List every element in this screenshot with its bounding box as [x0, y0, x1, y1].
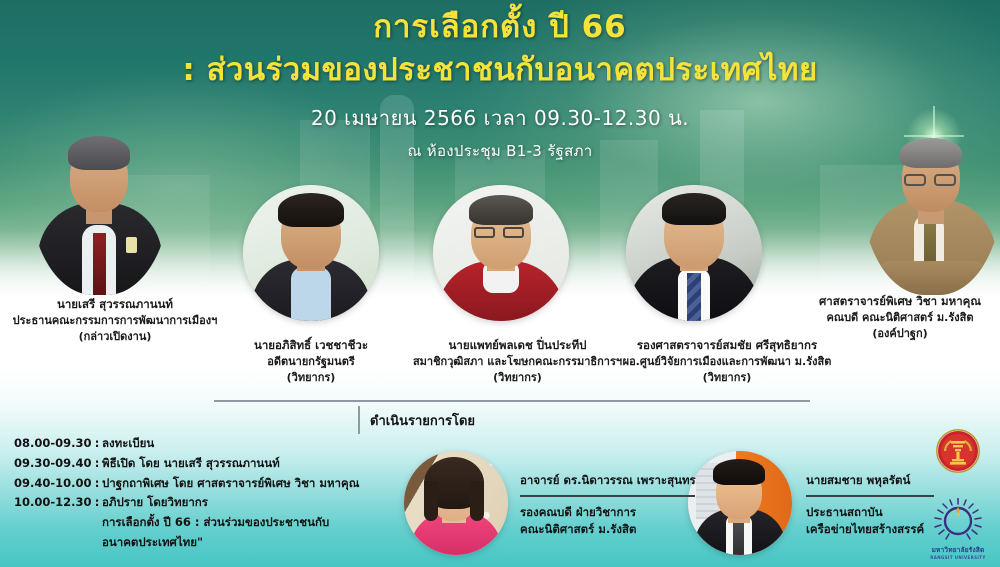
- glasses-icon: [934, 174, 956, 186]
- speaker-tag: (วิทยากร): [597, 370, 857, 386]
- agenda-time: 08.00-09.30: [14, 434, 92, 454]
- caption-rule: [520, 495, 695, 497]
- speaker-name: นายเสรี สุวรรณภานนท์: [0, 296, 230, 313]
- event-date-time: 20 เมษายน 2566 เวลา 09.30-12.30 น.: [0, 102, 1000, 134]
- agenda-text: ลงทะเบียน: [102, 434, 314, 454]
- avatar-hair: [662, 193, 726, 225]
- rangsit-emblem-icon: [928, 498, 988, 540]
- avatar-tie: [687, 273, 701, 321]
- speaker-caption-5: ศาสตราจารย์พิเศษ วิชา มหาคุณ คณบดี คณะนิ…: [800, 293, 1000, 342]
- agenda-time: 09.30-09.40: [14, 454, 92, 474]
- agenda-separator: :: [92, 474, 102, 494]
- agenda-continuation-line: อนาคตประเทศไทย": [14, 533, 314, 553]
- agenda-separator: :: [92, 434, 102, 454]
- glasses-icon: [503, 227, 524, 238]
- agenda-text: พิธีเปิด โดย นายเสรี สุวรรณภานนท์: [102, 454, 314, 474]
- avatar-hair-side: [424, 481, 438, 521]
- agenda-text: อภิปราย โดยวิทยากร: [102, 493, 314, 513]
- glasses-icon: [904, 174, 926, 186]
- rangsit-university-logo: มหาวิทยาลัยรังสิต RANGSIT UNIVERSITY: [928, 498, 988, 554]
- speaker-photo-2: [243, 185, 379, 321]
- avatar-hair-side: [470, 481, 484, 521]
- event-venue: ณ ห้องประชุม B1-3 รัฐสภา: [0, 139, 1000, 163]
- agenda-list: 08.00-09.30 : ลงทะเบียน 09.30-09.40 : พิ…: [14, 434, 314, 553]
- moderator-role-line-1: ประธานสถาบัน: [806, 504, 934, 521]
- avatar-badge: [126, 237, 137, 253]
- moderator-photo-2: [688, 451, 792, 555]
- agenda-separator: :: [92, 493, 102, 513]
- agenda-time: 09.40-10.00: [14, 474, 92, 494]
- avatar-arms: [876, 261, 988, 295]
- agenda-item: 09.30-09.40 : พิธีเปิด โดย นายเสรี สุวรร…: [14, 454, 314, 474]
- speaker-role: ประธานคณะกรรมการการพัฒนาการเมืองฯ: [0, 313, 230, 329]
- page-subtitle: : ส่วนร่วมของประชาชนกับอนาคตประเทศไทย: [0, 51, 1000, 90]
- speaker-name: ศาสตราจารย์พิเศษ วิชา มหาคุณ: [800, 293, 1000, 310]
- speaker-role: คณบดี คณะนิติศาสตร์ ม.รังสิต: [800, 310, 1000, 326]
- moderator-name: นายสมชาย พหุลรัตน์: [806, 472, 934, 490]
- avatar-shirt: [291, 267, 331, 321]
- speaker-tag: (องค์ปาฐก): [800, 326, 1000, 342]
- agenda-separator: :: [92, 454, 102, 474]
- speaker-role: ผอ.ศูนย์วิจัยการเมืองและการพัฒนา ม.รังสิ…: [597, 354, 857, 370]
- agenda-item: 09.40-10.00 : ปาฐกถาพิเศษ โดย ศาสตราจารย…: [14, 474, 314, 494]
- event-poster: การเลือกตั้ง ปี 66 : ส่วนร่วมของประชาชนก…: [0, 0, 1000, 567]
- speaker-caption-4: รองศาสตราจารย์สมชัย ศรีสุทธิยากร ผอ.ศูนย…: [597, 337, 857, 386]
- avatar-tie: [924, 219, 936, 265]
- agenda-time: 10.00-12.30: [14, 493, 92, 513]
- moderator-photo-1: [404, 451, 508, 555]
- moderator-caption-2: นายสมชาย พหุลรัตน์ ประธานสถาบัน เครือข่า…: [806, 472, 934, 539]
- moderator-role-line-2: เครือข่ายไทยสร้างสรรค์: [806, 521, 934, 538]
- poster-header: การเลือกตั้ง ปี 66 : ส่วนร่วมของประชาชนก…: [0, 8, 1000, 163]
- speaker-photo-4: [626, 185, 762, 321]
- moderator-caption-1: อาจารย์ ดร.นิดาวรรณ เพราะสุนทร รองคณบดี …: [520, 472, 695, 539]
- caption-rule: [806, 495, 934, 497]
- avatar-tie: [733, 519, 744, 555]
- moderator-section-heading: ดำเนินรายการโดย: [370, 410, 475, 431]
- agenda-item: 10.00-12.30 : อภิปราย โดยวิทยากร: [14, 493, 314, 513]
- moderator-role-line-1: รองคณบดี ฝ่ายวิชาการ: [520, 504, 695, 521]
- university-name-th: มหาวิทยาลัยรังสิต: [928, 545, 988, 555]
- avatar-hair: [278, 193, 344, 227]
- vertical-divider: [358, 406, 360, 434]
- agenda-item: 08.00-09.30 : ลงทะเบียน: [14, 434, 314, 454]
- page-title: การเลือกตั้ง ปี 66: [0, 8, 1000, 47]
- agenda-continuation-line: การเลือกตั้ง ปี 66 : ส่วนร่วมของประชาชนก…: [14, 513, 314, 533]
- glasses-icon: [474, 227, 495, 238]
- agenda-text: ปาฐกถาพิเศษ โดย ศาสตราจารย์พิเศษ วิชา มห…: [102, 474, 359, 494]
- moderator-name: อาจารย์ ดร.นิดาวรรณ เพราะสุนทร: [520, 472, 695, 490]
- speaker-photo-3: [433, 185, 569, 321]
- avatar-tie: [93, 233, 106, 295]
- avatar-hair: [713, 459, 765, 485]
- parliament-seal-icon: [935, 428, 981, 474]
- moderator-role-line-2: คณะนิติศาสตร์ ม.รังสิต: [520, 521, 695, 538]
- section-divider: [214, 400, 810, 402]
- avatar-hair: [469, 195, 533, 225]
- university-name-en: RANGSIT UNIVERSITY: [928, 555, 988, 560]
